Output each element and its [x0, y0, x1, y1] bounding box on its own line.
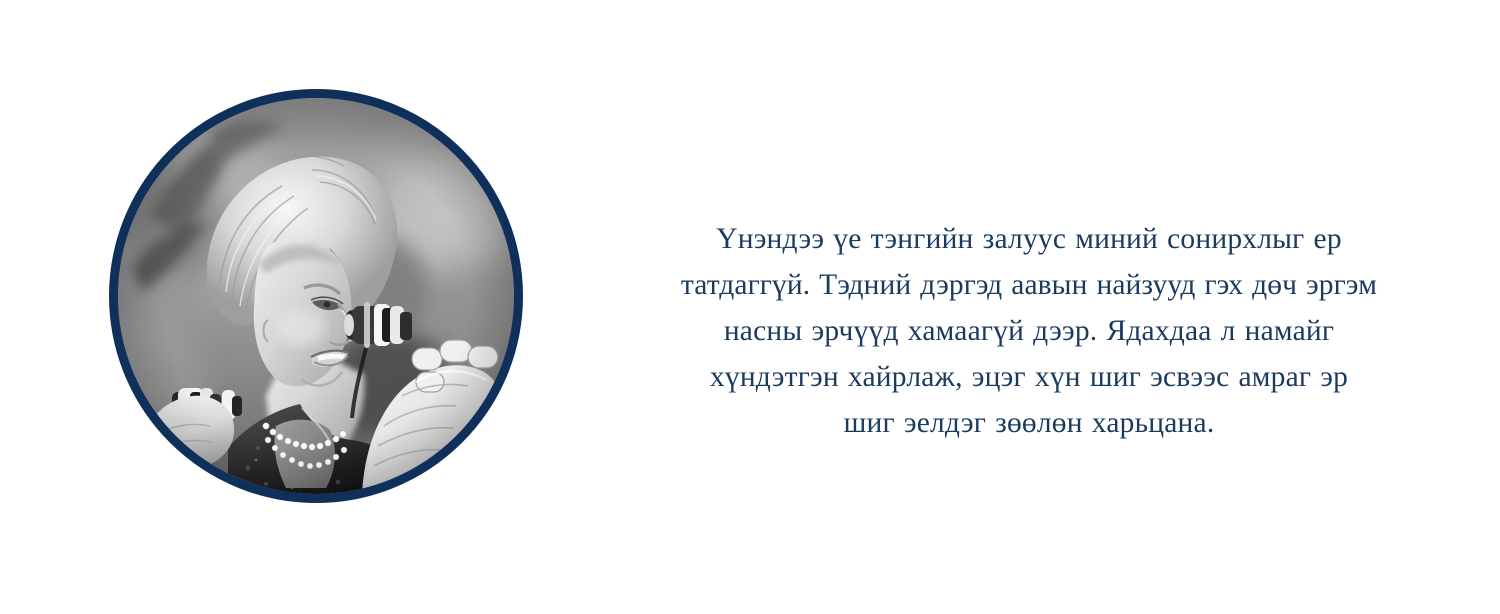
quote-line-3: насны эрчүүд хамаагүй дээр. Ядахдаа л на…	[640, 308, 1418, 354]
portrait-image	[118, 98, 514, 494]
quote-line-1: Үнэндээ үе тэнгийн залуус миний сонирхлы…	[640, 216, 1418, 262]
quote-line-2: татдаггүй. Тэдний дэргэд аавын найзууд г…	[640, 262, 1418, 308]
quote-card-canvas: Үнэндээ үе тэнгийн залуус миний сонирхлы…	[0, 0, 1500, 614]
portrait-photo-illustration	[118, 98, 514, 494]
quote-line-5: шиг эелдэг зөөлөн харьцана.	[640, 400, 1418, 446]
quote-text: Үнэндээ үе тэнгийн залуус миний сонирхлы…	[640, 216, 1418, 446]
quote-line-4: хүндэтгэн хайрлаж, эцэг хүн шиг эсвээс а…	[640, 354, 1418, 400]
portrait-circle-frame	[109, 89, 523, 503]
